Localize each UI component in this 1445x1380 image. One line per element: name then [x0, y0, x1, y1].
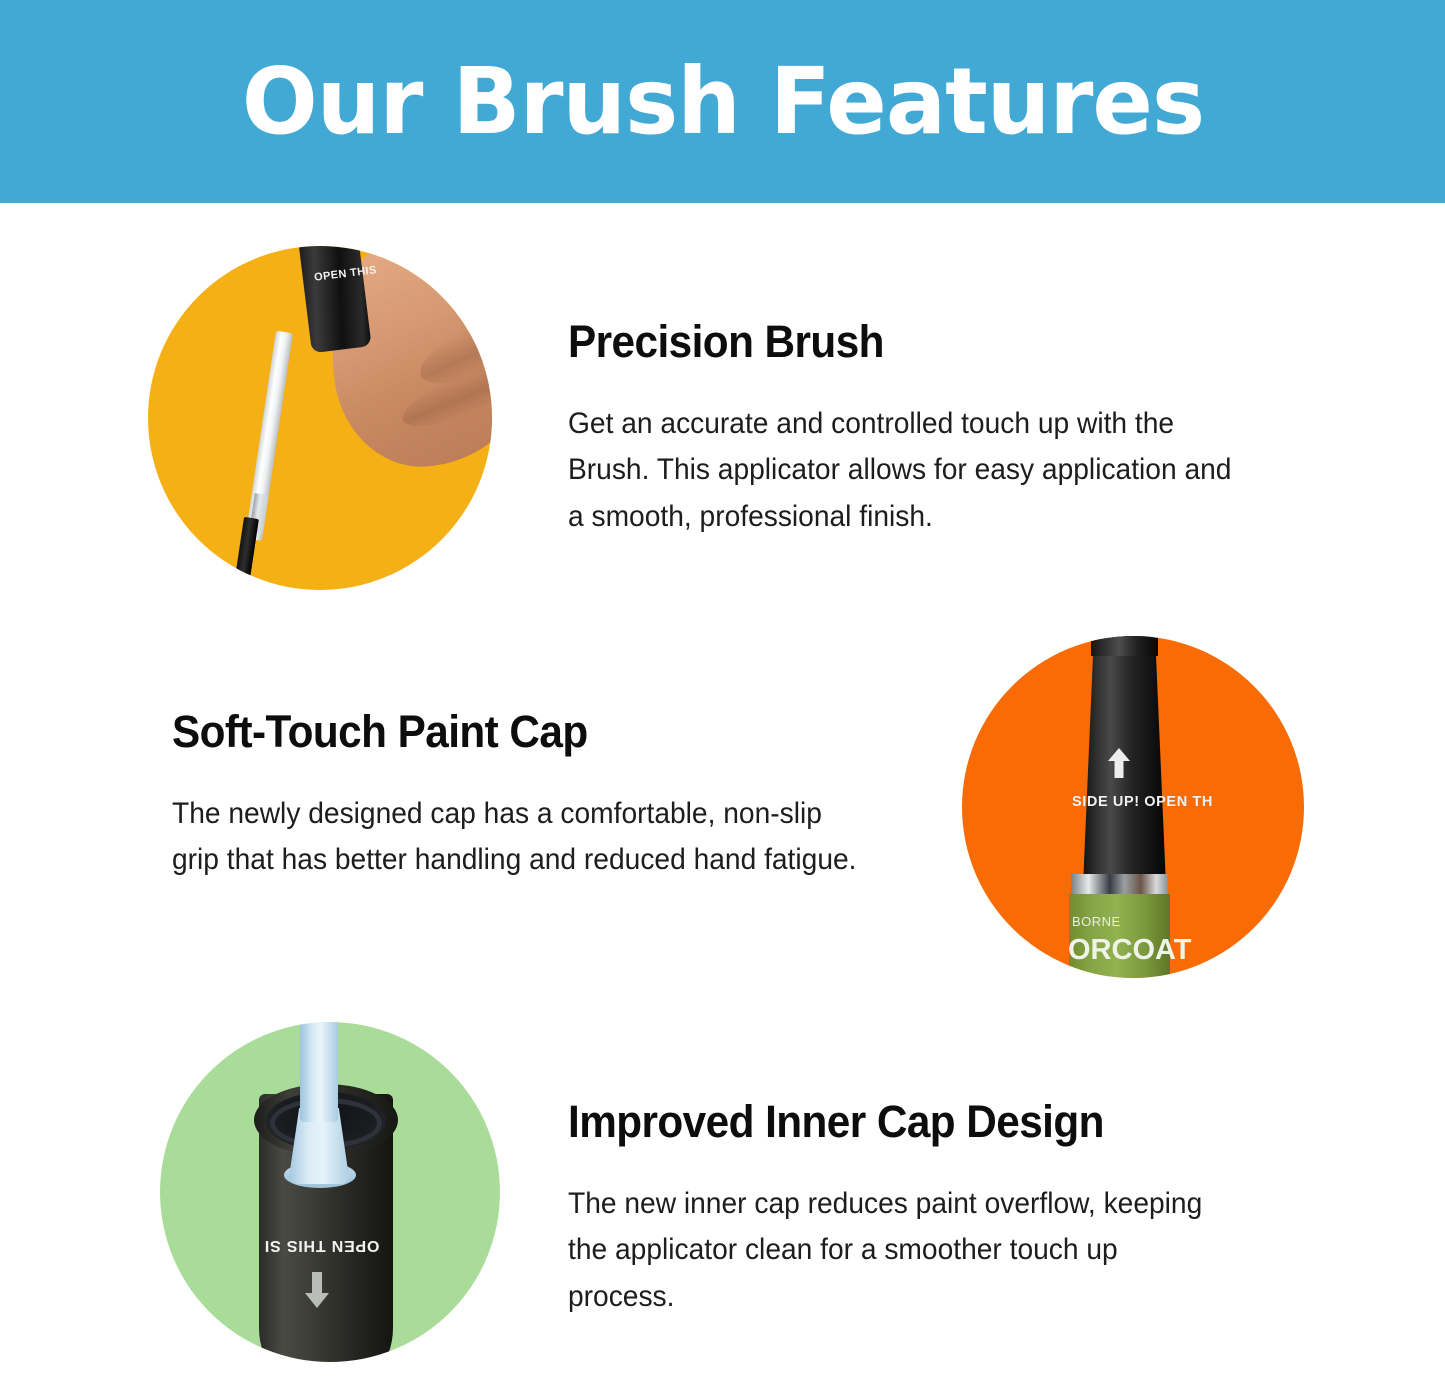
applicator-tube-upper [300, 1022, 338, 1122]
arrow-down-icon [303, 1272, 331, 1308]
photo-precision-brush-content: OPEN THIS [148, 246, 492, 590]
photo-inner-cap-content: OPEN THIS SI [160, 1022, 500, 1362]
feature-body-precision-brush: Get an accurate and controlled touch up … [568, 401, 1248, 541]
feature-text-improved-inner-cap-design: Improved Inner Cap Design The new inner … [568, 1098, 1268, 1320]
photo-soft-touch-cap-content: SIDE UP! OPEN TH BORNE ORCOAT [962, 636, 1304, 978]
cap-instruction-text: OPEN THIS SI [264, 1236, 379, 1254]
feature-body-improved-inner-cap-design: The new inner cap reduces paint overflow… [568, 1181, 1217, 1321]
paint-pen-cap [298, 246, 371, 353]
feature-heading-precision-brush: Precision Brush [568, 318, 1254, 367]
feature-image-soft-touch-paint-cap: SIDE UP! OPEN TH BORNE ORCOAT [962, 636, 1304, 978]
feature-body-soft-touch-paint-cap: The newly designed cap has a comfortable… [172, 791, 863, 884]
feature-text-precision-brush: Precision Brush Get an accurate and cont… [568, 318, 1298, 540]
bottle-product-text: ORCOAT [1068, 934, 1192, 967]
arrow-up-icon [1106, 748, 1132, 778]
infographic-page: Our Brush Features OPEN THIS Precision B… [0, 0, 1445, 1380]
brush-bristles [232, 517, 259, 590]
header-banner: Our Brush Features [0, 0, 1445, 203]
bottle-collar [1071, 874, 1168, 896]
feature-image-precision-brush: OPEN THIS [148, 246, 492, 590]
page-title: Our Brush Features [241, 56, 1203, 148]
feature-heading-improved-inner-cap-design: Improved Inner Cap Design [568, 1098, 1226, 1147]
cap-instruction-text: SIDE UP! OPEN TH [1072, 794, 1213, 810]
soft-touch-cap-dome [1091, 636, 1158, 656]
feature-image-improved-inner-cap-design: OPEN THIS SI [160, 1022, 500, 1362]
feature-heading-soft-touch-paint-cap: Soft-Touch Paint Cap [172, 708, 868, 757]
feature-text-soft-touch-paint-cap: Soft-Touch Paint Cap The newly designed … [172, 708, 912, 884]
bottle-brand-text: BORNE [1072, 914, 1121, 929]
